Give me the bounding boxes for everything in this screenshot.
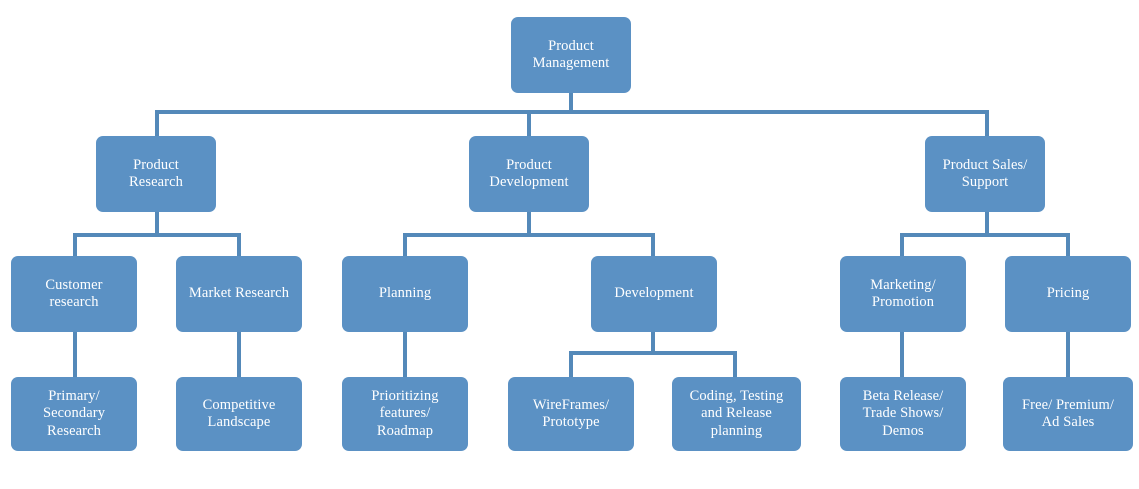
node-label: Primary/ Secondary Research bbox=[43, 388, 105, 439]
node-label: Product Sales/ Support bbox=[943, 157, 1028, 191]
node-label: Beta Release/ Trade Shows/ Demos bbox=[863, 388, 944, 439]
connector-sales-stem bbox=[985, 211, 989, 235]
connector-research-bus bbox=[73, 233, 241, 237]
connector-development-bus bbox=[403, 233, 655, 237]
connector-planning-to-prioritizing bbox=[403, 331, 407, 377]
connector-to-marketing bbox=[900, 233, 904, 257]
node-label: Coding, Testing and Release planning bbox=[690, 388, 784, 439]
org-chart-diagram: Product Management Product Research Prod… bbox=[0, 0, 1139, 489]
node-customer-research[interactable]: Customer research bbox=[11, 256, 137, 332]
node-label: Product Management bbox=[533, 38, 610, 72]
connector-to-planning bbox=[403, 233, 407, 257]
connector-sales-bus bbox=[900, 233, 1070, 237]
node-coding-testing-release[interactable]: Coding, Testing and Release planning bbox=[672, 377, 801, 451]
connector-marketing-to-beta bbox=[900, 331, 904, 377]
node-product-sales-support[interactable]: Product Sales/ Support bbox=[925, 136, 1045, 212]
connector-development-child-stem bbox=[651, 331, 655, 353]
node-primary-secondary-research[interactable]: Primary/ Secondary Research bbox=[11, 377, 137, 451]
connector-to-product-sales bbox=[985, 110, 989, 136]
node-competitive-landscape[interactable]: Competitive Landscape bbox=[176, 377, 302, 451]
node-product-management[interactable]: Product Management bbox=[511, 17, 631, 93]
node-planning[interactable]: Planning bbox=[342, 256, 468, 332]
connector-level1-bus bbox=[155, 110, 989, 114]
node-label: Competitive Landscape bbox=[203, 397, 276, 431]
connector-pricing-to-free-premium bbox=[1066, 331, 1070, 377]
node-label: Planning bbox=[379, 285, 431, 302]
node-label: Development bbox=[614, 285, 693, 302]
connector-to-product-development bbox=[527, 110, 531, 136]
connector-to-pricing bbox=[1066, 233, 1070, 257]
connector-to-development bbox=[651, 233, 655, 257]
connector-customer-research-to-primary bbox=[73, 331, 77, 377]
connector-development-child-bus bbox=[569, 351, 737, 355]
node-label: Customer research bbox=[45, 277, 102, 311]
connector-to-product-research bbox=[155, 110, 159, 136]
node-beta-release-trade-shows[interactable]: Beta Release/ Trade Shows/ Demos bbox=[840, 377, 966, 451]
connector-research-stem bbox=[155, 211, 159, 235]
node-product-research[interactable]: Product Research bbox=[96, 136, 216, 212]
node-label: Prioritizing features/ Roadmap bbox=[371, 388, 438, 439]
node-marketing-promotion[interactable]: Marketing/ Promotion bbox=[840, 256, 966, 332]
connector-to-customer-research bbox=[73, 233, 77, 257]
node-label: WireFrames/ Prototype bbox=[533, 397, 609, 431]
node-development[interactable]: Development bbox=[591, 256, 717, 332]
node-pricing[interactable]: Pricing bbox=[1005, 256, 1131, 332]
node-product-development[interactable]: Product Development bbox=[469, 136, 589, 212]
connector-development-stem bbox=[527, 211, 531, 235]
node-label: Pricing bbox=[1047, 285, 1090, 302]
node-label: Market Research bbox=[189, 285, 289, 302]
connector-to-market-research bbox=[237, 233, 241, 257]
node-free-premium-ad-sales[interactable]: Free/ Premium/ Ad Sales bbox=[1003, 377, 1133, 451]
node-market-research[interactable]: Market Research bbox=[176, 256, 302, 332]
node-label: Product Research bbox=[129, 157, 183, 191]
node-wireframes-prototype[interactable]: WireFrames/ Prototype bbox=[508, 377, 634, 451]
node-prioritizing-features-roadmap[interactable]: Prioritizing features/ Roadmap bbox=[342, 377, 468, 451]
connector-to-coding bbox=[733, 351, 737, 377]
node-label: Marketing/ Promotion bbox=[870, 277, 935, 311]
node-label: Free/ Premium/ Ad Sales bbox=[1022, 397, 1114, 431]
connector-market-research-to-competitive bbox=[237, 331, 241, 377]
connector-to-wireframes bbox=[569, 351, 573, 377]
node-label: Product Development bbox=[489, 157, 568, 191]
